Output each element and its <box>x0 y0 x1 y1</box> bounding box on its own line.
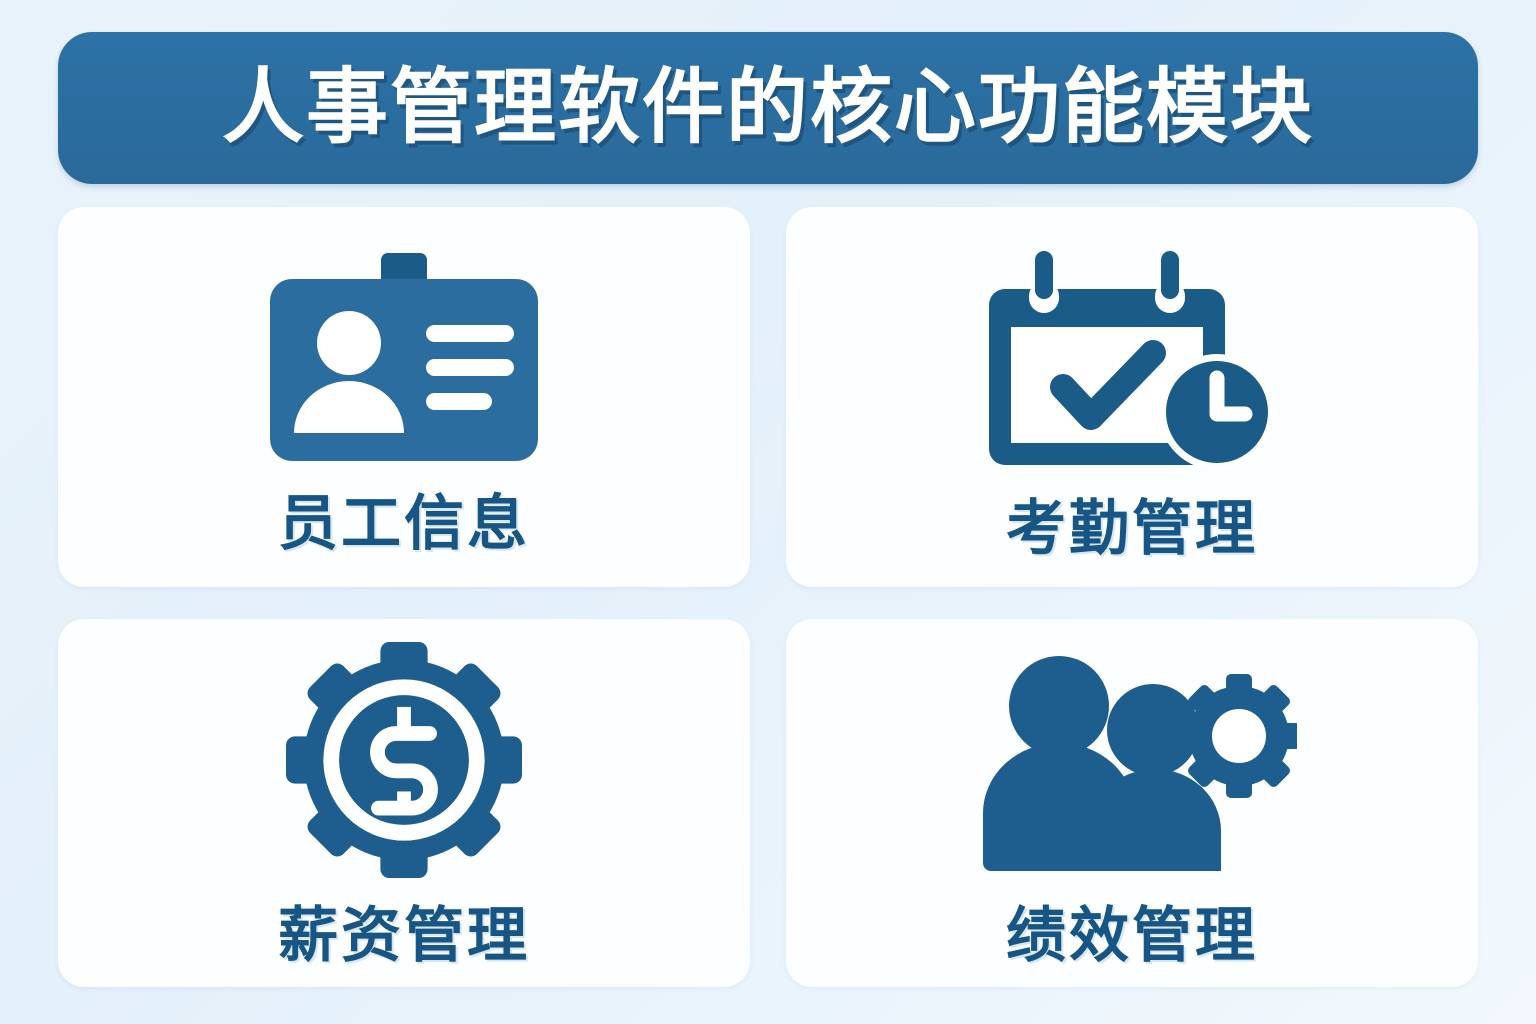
people-gear-icon <box>786 640 1478 880</box>
feature-card-employee-info[interactable]: 员工信息 <box>58 207 750 587</box>
calendar-check-clock-icon <box>786 235 1478 485</box>
id-badge-icon <box>58 240 750 480</box>
title-banner: 人事管理软件的核心功能模块 <box>58 32 1478 184</box>
page-title: 人事管理软件的核心功能模块 <box>222 67 1314 149</box>
infographic-poster: 人事管理软件的核心功能模块 <box>0 0 1536 1024</box>
feature-card-performance[interactable]: 绩效管理 <box>786 619 1478 987</box>
card-label: 考勤管理 <box>1006 499 1258 559</box>
card-label: 员工信息 <box>278 494 530 554</box>
feature-card-grid: 员工信息 <box>58 207 1478 987</box>
gear-dollar-icon <box>58 640 750 880</box>
feature-card-attendance[interactable]: 考勤管理 <box>786 207 1478 587</box>
card-label: 绩效管理 <box>1006 906 1258 966</box>
card-label: 薪资管理 <box>278 906 530 966</box>
feature-card-payroll[interactable]: 薪资管理 <box>58 619 750 987</box>
